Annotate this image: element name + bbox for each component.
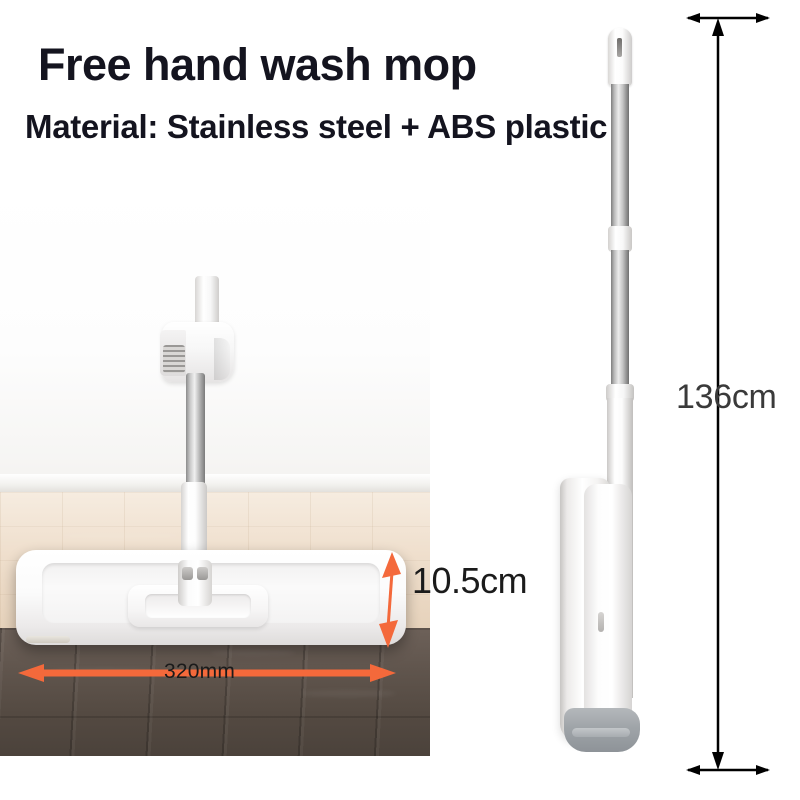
steel-rod-upper (611, 84, 629, 230)
wringer-vents (163, 345, 185, 373)
mop-head-front (584, 484, 632, 740)
hanging-slot-icon (617, 38, 622, 57)
baseboard (0, 474, 430, 493)
dark-wood-floor (0, 628, 430, 756)
release-button (598, 612, 604, 632)
height-measurement-label: 10.5cm (412, 560, 527, 602)
width-measurement-label: 320mm (164, 660, 235, 684)
product-infographic: Free hand wash mop Material: Stainless s… (0, 0, 800, 800)
microfiber-pad-seam (572, 728, 630, 737)
page-title: Free hand wash mop (38, 39, 477, 91)
handle-cap (608, 28, 632, 86)
length-measurement-label: 136cm (676, 378, 777, 417)
mop-pad-edge (26, 636, 70, 643)
rod-collar-upper (608, 226, 632, 252)
housing-shade (214, 338, 230, 380)
double-arrow-vertical-icon (379, 552, 403, 648)
steel-rod-lower (611, 250, 629, 390)
material-subtitle: Material: Stainless steel + ABS plastic (25, 108, 607, 146)
stainless-steel-pole (186, 373, 205, 491)
swivel-clip-left (182, 567, 193, 580)
swivel-clip-right (197, 567, 208, 580)
